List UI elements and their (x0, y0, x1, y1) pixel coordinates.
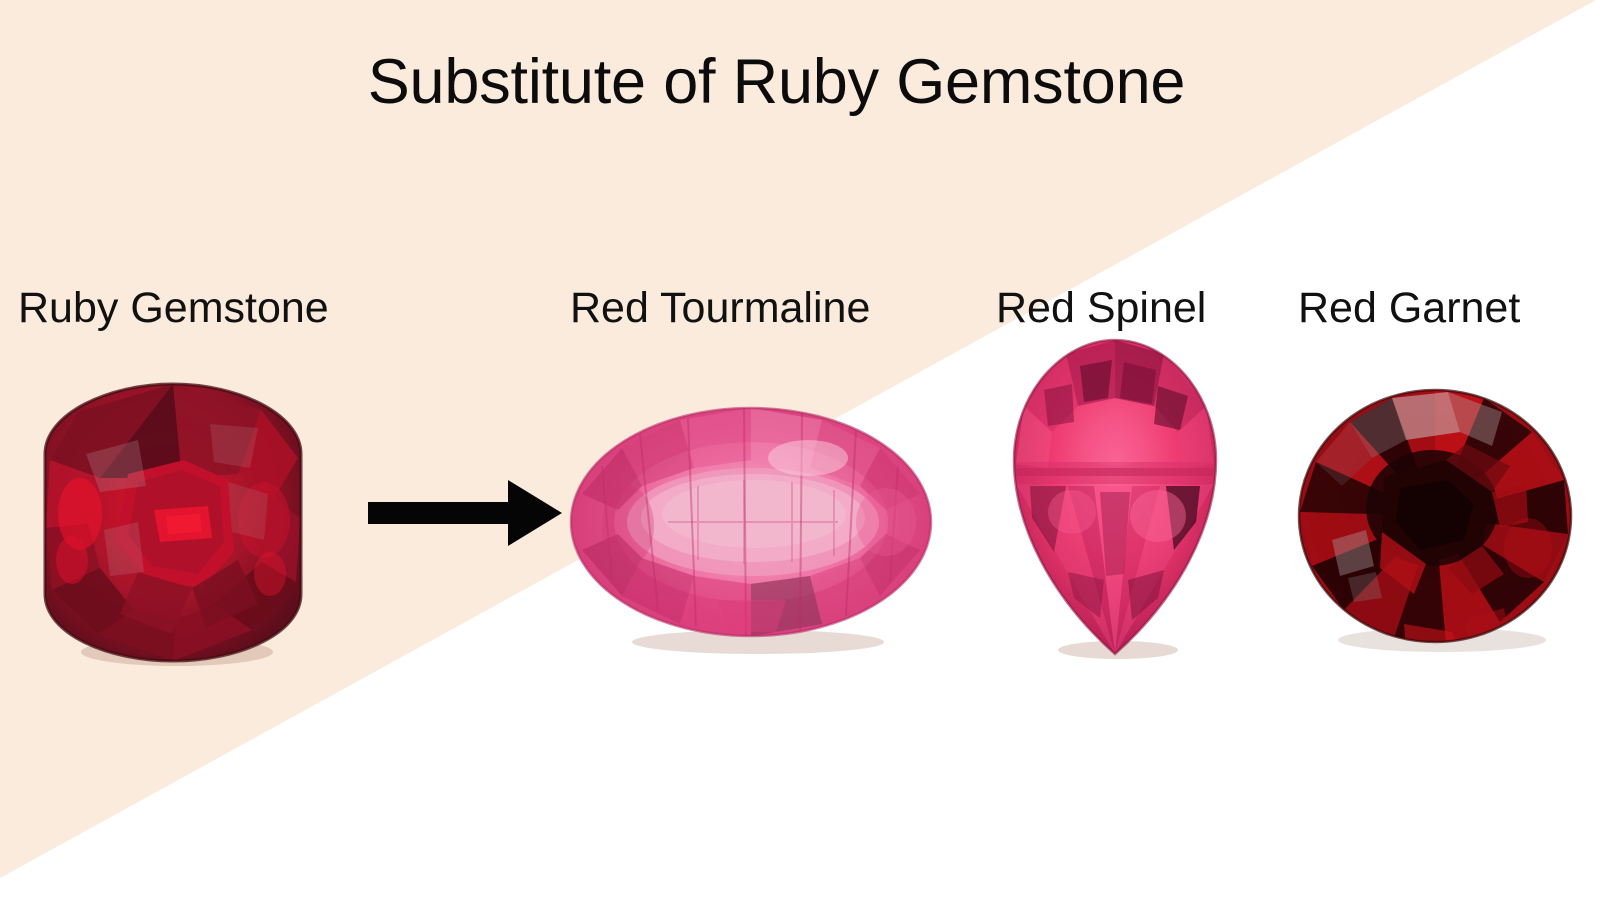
gem-label-ruby: Ruby Gemstone (18, 282, 329, 334)
right-arrow-icon (368, 478, 564, 548)
gem-label-spinel: Red Spinel (996, 282, 1206, 334)
page-title: Substitute of Ruby Gemstone (0, 46, 1553, 118)
gemstone-round-brilliant-cut-icon (1296, 388, 1576, 652)
gem-label-garnet: Red Garnet (1298, 282, 1520, 334)
gemstone-cushion-cut-icon (42, 382, 304, 664)
gemstone-oval-cut-icon (568, 404, 940, 654)
infographic-canvas: Substitute of Ruby Gemstone Ruby Gemston… (0, 0, 1600, 900)
gemstone-pear-cut-icon (1008, 336, 1222, 658)
gem-label-tourmaline: Red Tourmaline (570, 282, 870, 334)
